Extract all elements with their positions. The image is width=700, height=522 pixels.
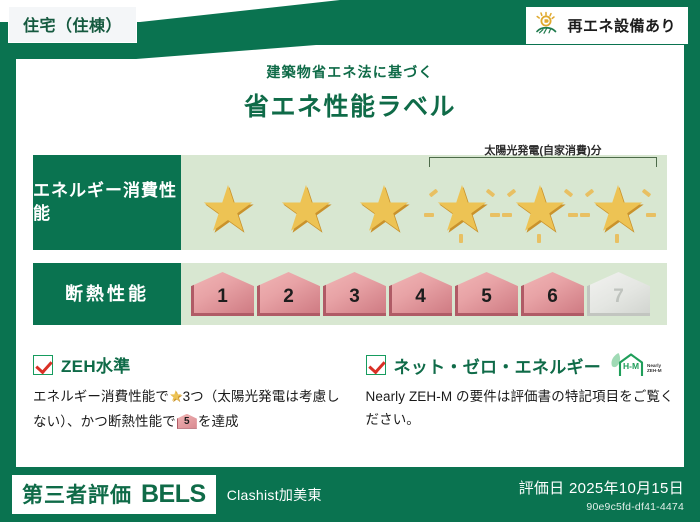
star-6-solar: ★ [579,177,657,243]
claim-zeh-header: ZEH水準 [33,352,348,377]
insulation-levels-area: 1 2 3 4 5 6 7 [181,263,667,325]
claim-net-zero-energy: ネット・ゼロ・エネルギー H-M Nearly ZEH-M Nearly ZEH… [366,352,681,433]
building-name: Clashist加美東 [227,485,322,505]
label-subtitle: 建築物省エネ法に基づく [0,62,700,82]
checkbox-checked-icon [33,355,53,375]
solar-annotation-text: 太陽光発電(自家消費)分 [425,142,661,158]
claim-zeh-text-part3: を達成 [198,414,239,429]
nearly-zeh-m-logo-icon: H-M Nearly ZEH-M [609,352,665,378]
insulation-performance-label: 断熱性能 [33,263,181,325]
star-4-solar: ★ [423,177,501,243]
evaluation-date-label: 評価日 [519,480,565,497]
title-block: 建築物省エネ法に基づく 省エネ性能ラベル [0,62,700,123]
claim-zeh-text-part1: エネルギー消費性能で [33,389,169,404]
star-2: ★ [267,177,345,243]
svg-text:H-M: H-M [623,361,639,371]
insulation-level-6: 6 [521,272,584,316]
claim-zeh-text: エネルギー消費性能で★3つ（太陽光発電は考慮しない）、かつ断熱性能で5を達成 [33,384,348,433]
inline-house-badge-icon: 5 [177,414,197,429]
insulation-level-1: 1 [191,272,254,316]
evaluation-date-value: 2025年10月15日 [569,480,684,497]
star-5-solar: ★ [501,177,579,243]
renewable-energy-badge: 再エネ設備あり [526,7,688,44]
evaluation-date: 評価日 2025年10月15日 [519,477,684,498]
claim-zeh-title: ZEH水準 [61,352,131,377]
evaluation-id: 90e9c5fd-df41-4474 [519,501,684,513]
energy-performance-label: エネルギー消費性能 [33,155,181,250]
star-rating: ★ ★ ★ ★ ★ ★ [181,155,667,250]
claim-zeh-standard: ZEH水準 エネルギー消費性能で★3つ（太陽光発電は考慮しない）、かつ断熱性能で… [33,352,348,433]
bels-certification-box: 第三者評価 BELS [12,475,216,514]
page-title: 省エネ性能ラベル [0,87,700,123]
footer-eval-info: 評価日 2025年10月15日 90e9c5fd-df41-4474 [519,477,684,513]
insulation-level-scale: 1 2 3 4 5 6 7 [181,263,667,325]
star-1: ★ [189,177,267,243]
renewable-badge-label: 再エネ設備あり [567,15,676,36]
energy-stars-area: 太陽光発電(自家消費)分 ★ ★ ★ ★ ★ [181,155,667,250]
solar-bracket [429,157,657,167]
insulation-level-2: 2 [257,272,320,316]
claim-nze-header: ネット・ゼロ・エネルギー H-M Nearly ZEH-M [366,352,681,378]
bels-jp-label: 第三者評価 [22,479,132,509]
insulation-performance-row: 断熱性能 1 2 3 4 5 6 7 [33,263,667,325]
claim-nze-title: ネット・ゼロ・エネルギー [394,353,602,378]
insulation-level-3: 3 [323,272,386,316]
inline-star-icon: ★ [169,388,183,405]
insulation-level-5: 5 [455,272,518,316]
claims-section: ZEH水準 エネルギー消費性能で★3つ（太陽光発電は考慮しない）、かつ断熱性能で… [33,352,680,433]
footer-bar: 第三者評価 BELS Clashist加美東 評価日 2025年10月15日 9… [0,467,700,522]
claim-nze-text: Nearly ZEH-M の要件は評価書の特記項目をご覧ください。 [366,385,681,431]
star-3: ★ [345,177,423,243]
bels-en-label: BELS [141,480,206,509]
insulation-level-7: 7 [587,272,650,316]
svg-text:ZEH-M: ZEH-M [647,368,662,373]
energy-performance-row: エネルギー消費性能 太陽光発電(自家消費)分 ★ ★ ★ ★ ★ [33,155,667,250]
solar-sun-icon [534,11,560,40]
insulation-level-4: 4 [389,272,452,316]
house-type-tag: 住宅（住棟） [8,6,137,43]
checkbox-checked-icon [366,355,386,375]
